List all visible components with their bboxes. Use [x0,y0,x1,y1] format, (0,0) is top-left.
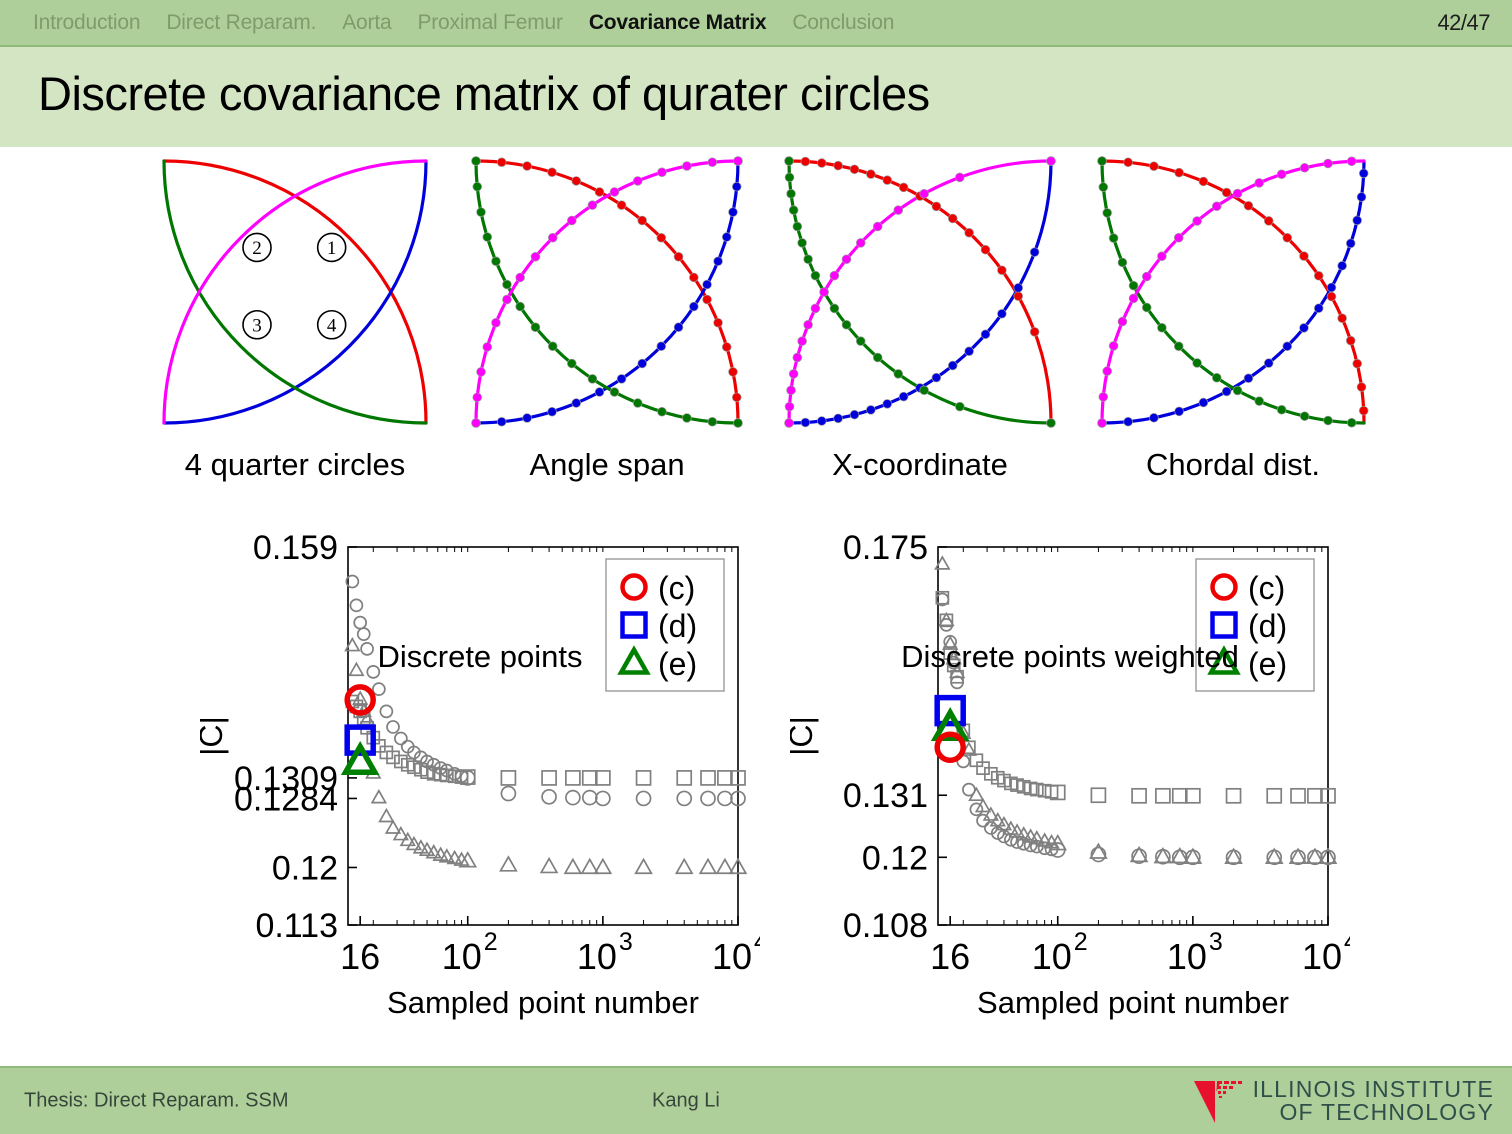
y-axis-label: |C| [200,716,229,756]
panel-figure-3 [775,147,1065,437]
navigation-bar: IntroductionDirect Reparam.AortaProximal… [0,0,1512,47]
x-tick-label: 16 [930,936,970,977]
x-axis-label: Sampled point number [387,985,699,1020]
x-tick-label: 103 [577,928,633,977]
nav-items: IntroductionDirect Reparam.AortaProximal… [0,11,907,35]
footer-thesis-label: Thesis: Direct Reparam. SSM [24,1090,289,1113]
quadrant-marker-2: 2 [243,233,271,261]
logo-line-2: OF TECHNOLOGY [1279,1101,1494,1124]
y-tick-label: 0.12 [862,839,928,877]
x-tick-label: 103 [1167,928,1223,977]
iit-logo: ILLINOIS INSTITUTE OF TECHNOLOGY [1191,1076,1494,1126]
x-tick-label: 102 [442,928,498,977]
svg-text:16: 16 [930,936,970,977]
svg-text:4: 4 [327,315,337,336]
x-tick-label: 104 [1302,928,1350,977]
footer-bar: Thesis: Direct Reparam. SSM Kang Li [0,1066,1512,1134]
svg-text:3: 3 [1209,928,1223,956]
panel-figure-1: 1234 [150,147,440,437]
x-axis-label: Sampled point number [977,985,1289,1020]
iit-logo-text: ILLINOIS INSTITUTE OF TECHNOLOGY [1253,1078,1494,1125]
nav-item-proximal-femur[interactable]: Proximal Femur [404,11,575,35]
panel-figure-4 [1088,147,1378,437]
iit-flame-icon [1191,1076,1243,1126]
svg-text:2: 2 [484,928,498,956]
footer-author-label: Kang Li [652,1090,720,1113]
svg-text:10: 10 [1032,936,1072,977]
slide-content: 12344 quarter circlesAngle spanX-coordin… [0,147,1512,1068]
quadrant-marker-4: 4 [318,311,346,339]
svg-text:16: 16 [340,936,380,977]
y-tick-label: 0.131 [843,777,928,815]
panel-3 [775,147,1065,437]
panel-4 [1088,147,1378,437]
svg-text:10: 10 [577,936,617,977]
panel-label-4: Chordal dist. [1088,447,1378,483]
nav-item-aorta[interactable]: Aorta [329,11,404,35]
legend-label: (c) [1248,570,1285,606]
svg-text:3: 3 [619,928,633,956]
y-tick-label: 0.159 [253,529,338,567]
x-tick-label: 102 [1032,928,1088,977]
nav-item-covariance-matrix[interactable]: Covariance Matrix [576,11,780,35]
panel-figure-2 [462,147,752,437]
x-tick-label: 16 [340,936,380,977]
svg-text:10: 10 [712,936,752,977]
y-tick-label: 0.108 [843,907,928,945]
panel-2 [462,147,752,437]
x-tick-label: 104 [712,928,760,977]
nav-item-introduction[interactable]: Introduction [20,11,153,35]
y-axis-label: |C| [790,716,819,756]
quarter-circle-panels: 12344 quarter circlesAngle spanX-coordin… [0,147,1512,492]
panel-label-1: 4 quarter circles [150,447,440,483]
svg-text:3: 3 [252,315,262,336]
svg-text:10: 10 [1302,936,1342,977]
chart-discrete-points: 161021031040.1130.120.12840.13090.159|C|… [200,525,760,1045]
y-tick-label: 0.12 [272,849,338,887]
quadrant-marker-3: 3 [243,311,271,339]
svg-text:4: 4 [1344,928,1350,956]
y-tick-label: 0.113 [255,907,338,945]
legend-label: (c) [658,570,695,606]
chart-discrete-points-weighted: 161021031040.1080.120.1310.175|C|Sampled… [790,525,1350,1045]
svg-text:2: 2 [1074,928,1088,956]
chart-left-caption: Discrete points [200,639,760,675]
svg-text:10: 10 [1167,936,1207,977]
page-indicator: 42/47 [1437,10,1490,36]
svg-text:2: 2 [252,238,262,259]
page-title: Discrete covariance matrix of qurater ci… [38,66,930,121]
svg-text:1: 1 [327,238,337,259]
y-tick-label: 0.1309 [234,760,338,798]
chart-right-caption: Discrete points weighted [790,639,1350,675]
logo-line-1: ILLINOIS INSTITUTE [1253,1078,1494,1101]
nav-item-direct-reparam[interactable]: Direct Reparam. [153,11,329,35]
svg-text:4: 4 [754,928,760,956]
y-tick-label: 0.175 [843,529,928,567]
quadrant-marker-1: 1 [318,233,346,261]
panel-1: 1234 [150,147,440,437]
panel-label-3: X-coordinate [775,447,1065,483]
panel-label-2: Angle span [462,447,752,483]
svg-text:10: 10 [442,936,482,977]
slide: IntroductionDirect Reparam.AortaProximal… [0,0,1512,1134]
scatter-plot-left: 161021031040.1130.120.12840.13090.159|C|… [200,525,760,1045]
scatter-plot-right: 161021031040.1080.120.1310.175|C|Sampled… [790,525,1350,1045]
nav-item-conclusion[interactable]: Conclusion [779,11,907,35]
